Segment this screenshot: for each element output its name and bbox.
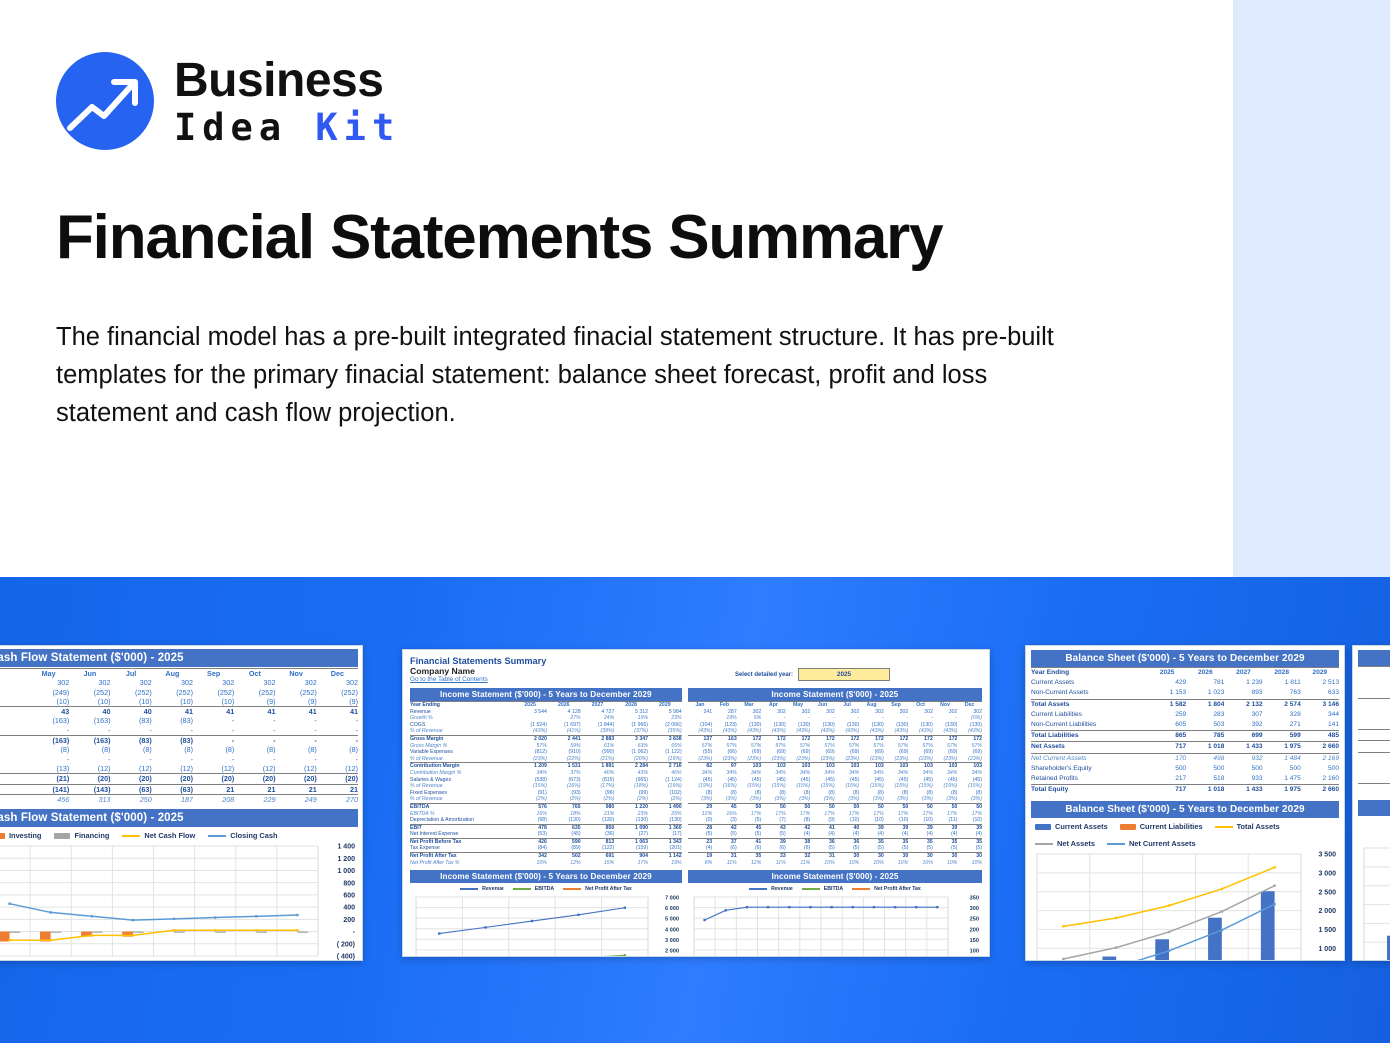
table-cell: (130) — [648, 817, 682, 824]
table-cell: - — [152, 726, 193, 736]
row-label: Growth % — [410, 715, 513, 722]
table-cell: (91) — [513, 790, 547, 797]
table-cell: (163) — [69, 716, 110, 725]
legend-label: Investing — [9, 831, 41, 840]
table-cell: 2 441 — [547, 735, 581, 742]
table-cell: (10) — [111, 697, 152, 707]
table-cell: (12) — [111, 764, 152, 774]
table-cell: (163) — [69, 736, 110, 746]
table-cell: 30 — [933, 853, 958, 860]
screenshot-balance-sheet[interactable]: Balance Sheet ($'000) - 5 Years to Decem… — [1025, 645, 1345, 961]
table-cell: - — [317, 736, 358, 746]
table-cell: 500 — [1263, 764, 1301, 774]
table-cell: 50 — [810, 803, 835, 810]
table-cell: May — [786, 702, 811, 709]
table-cell: 302 — [111, 678, 152, 687]
table-cell: 19 — [688, 853, 713, 860]
table-cell: 35 — [933, 838, 958, 845]
table-cell: 3 544 — [513, 709, 547, 716]
table-cell: (9) — [234, 697, 275, 707]
table-cell: (23%) — [884, 756, 909, 763]
table-row: 137163172172172172172172172172172172 — [688, 735, 982, 742]
row-label: Shareholder's Equity — [1031, 764, 1148, 774]
table-cell: 302 — [276, 678, 317, 687]
table-cell: 2 660 — [1301, 785, 1339, 796]
table-cell: 35 — [908, 838, 933, 845]
table-cell: (1 124) — [648, 777, 682, 784]
legend-item: Net Assets — [1035, 839, 1095, 848]
table-cell: 39 — [859, 824, 884, 831]
table-cell: 172 — [786, 735, 811, 742]
table-cell: (66) — [712, 749, 737, 756]
table-cell: Jun — [810, 702, 835, 709]
legend-label: Total Assets — [1237, 822, 1280, 831]
table-row: (249)(252)(252)(252)(252)(252)(252)(252) — [0, 688, 358, 697]
legend-label: Net Assets — [1057, 839, 1095, 848]
table-row: 294550505050505050505050 — [688, 803, 982, 810]
table-cell: 17% — [957, 811, 982, 818]
row-label: Variable Expenses — [410, 749, 513, 756]
table-cell: - — [276, 736, 317, 746]
table-cell: (83) — [111, 736, 152, 746]
row-label — [0, 716, 28, 725]
table-row: 193135333231303030303030 — [688, 853, 982, 860]
table-cell: (20%) — [614, 756, 648, 763]
row-label: % of Revenue — [410, 756, 513, 763]
table-cell: (5) — [908, 845, 933, 852]
table-cell: 103 — [737, 763, 762, 770]
row-label — [0, 736, 28, 746]
legend-label: Current Assets — [1055, 822, 1108, 831]
table-cell: (39%) — [581, 728, 615, 735]
table-cell: 17% — [761, 811, 786, 818]
table-cell: 865 — [1148, 731, 1186, 742]
table-cell: (8) — [111, 745, 152, 754]
row-label — [0, 678, 28, 687]
table-cell: 37 — [712, 838, 737, 845]
table-cell: 41 — [234, 707, 275, 717]
table-cell: (15%) — [786, 783, 811, 790]
svg-text:2 500: 2 500 — [1318, 890, 1336, 897]
row-label: Depreciation & Amortization — [410, 817, 513, 824]
table-cell: (21) — [28, 774, 69, 784]
table-cell: 1 490 — [648, 803, 682, 810]
table-cell: 426 — [513, 838, 547, 845]
table-row: % of Revenue(43%)(41%)(39%)(37%)(35%) — [410, 728, 682, 735]
table-cell: 229 — [234, 794, 275, 804]
table-cell: (8) — [69, 745, 110, 754]
table-cell: 137 — [688, 735, 713, 742]
table-cell: (23%) — [810, 756, 835, 763]
table-cell: (252) — [317, 688, 358, 697]
table-cell: (12) — [234, 764, 275, 774]
table-row: Net Interest Expense(53)(45)(36)(27)(17) — [410, 831, 682, 838]
table-cell: (104) — [688, 722, 713, 729]
table-cell: 18% — [547, 811, 581, 818]
table-cell: 30 — [835, 853, 860, 860]
table-cell: (8) — [786, 790, 811, 797]
table-cell: 4 128 — [547, 709, 581, 716]
table-cell: 12% — [547, 860, 581, 867]
table-cell: 57% — [957, 743, 982, 750]
table-cell: 163 — [712, 735, 737, 742]
screenshot-balance-sheet-monthly[interactable]: Jan1 1741241 297936927865121 08150012512… — [1352, 645, 1390, 961]
row-label: Revenue — [410, 709, 513, 716]
table-cell: (130) — [761, 722, 786, 729]
table-cell: 500 — [1224, 764, 1262, 774]
table-cell: (2%) — [614, 796, 648, 803]
table-row: Gross Margin2 0202 4412 8833 3473 838 — [410, 735, 682, 742]
table-cell: (43%) — [737, 728, 762, 735]
table-cell: (252) — [193, 688, 234, 697]
row-label: Current Liabilities — [1031, 710, 1148, 720]
table-cell: (10) — [859, 817, 884, 824]
legend-swatch — [513, 888, 531, 890]
table-cell: (8) — [234, 745, 275, 754]
table-cell: (15%) — [859, 783, 884, 790]
table-cell: (83) — [152, 716, 193, 725]
table-cell: (815) — [581, 777, 615, 784]
table-cell: Aug — [152, 669, 193, 679]
table-cell: 30 — [884, 853, 909, 860]
table-cell: - — [111, 755, 152, 764]
table-cell: 302 — [786, 709, 811, 716]
table-cell: (5) — [712, 831, 737, 838]
table-cell: 313 — [69, 794, 110, 804]
table-row: 500 — [1358, 763, 1390, 773]
table-cell: 1 081 — [1358, 752, 1390, 763]
table-cell: 1 153 — [1148, 688, 1186, 699]
table-row: 512 — [1358, 784, 1390, 795]
table-cell: (130) — [810, 722, 835, 729]
table-cell: (812) — [513, 749, 547, 756]
table-cell: 57% — [688, 743, 713, 750]
table-cell: 12% — [737, 860, 762, 867]
table-cell: (20) — [317, 774, 358, 784]
legend-swatch — [1035, 843, 1053, 845]
table-cell: 302 — [908, 709, 933, 716]
table-cell: (965) — [614, 777, 648, 784]
table-cell: (45) — [933, 777, 958, 784]
table-cell: - — [234, 726, 275, 736]
table-cell: 500 — [1358, 763, 1390, 773]
svg-text:1 500: 1 500 — [1318, 927, 1336, 934]
table-cell: 63% — [614, 743, 648, 750]
table-cell: 21 — [193, 784, 234, 794]
table-row: (3%)(3%)(3%)(3%)(3%)(3%)(3%)(3%)(3%)(3%)… — [688, 796, 982, 803]
table-cell: Jan — [1358, 667, 1390, 678]
table-cell: (23%) — [859, 756, 884, 763]
table-cell: 302 — [317, 678, 358, 687]
table-cell: (15%) — [761, 783, 786, 790]
table-cell: 57% — [859, 743, 884, 750]
table-cell: 342 — [513, 853, 547, 860]
table-cell: 40% — [581, 770, 615, 777]
svg-text:1 400: 1 400 — [337, 844, 355, 851]
table-row: Revenue3 5444 1284 7275 3125 984 — [410, 709, 682, 716]
table-cell: (6) — [786, 845, 811, 852]
table-cell: 27% — [547, 715, 581, 722]
table-cell: 2029 — [1301, 668, 1339, 679]
table-cell: (130) — [737, 722, 762, 729]
svg-text:250: 250 — [970, 917, 979, 923]
table-row: 692 — [1358, 719, 1390, 730]
table-cell: (16%) — [547, 783, 581, 790]
svg-text:350: 350 — [970, 896, 979, 902]
table-cell: (12) — [317, 764, 358, 774]
table-cell: (4) — [688, 845, 713, 852]
table-cell: 271 — [1263, 720, 1301, 731]
table-row: Total Equity7171 0181 4331 9752 660 — [1031, 785, 1339, 796]
table-cell: (23%) — [957, 756, 982, 763]
table-cell: (96) — [581, 790, 615, 797]
table-cell: (43%) — [957, 728, 982, 735]
table-cell: 259 — [1148, 710, 1186, 720]
table-cell: (45) — [547, 831, 581, 838]
balance-monthly-title — [1358, 650, 1390, 666]
table-cell: 1 174 — [1358, 677, 1390, 687]
svg-text:5 000: 5 000 — [665, 917, 679, 923]
table-cell: (3%) — [712, 796, 737, 803]
row-label — [0, 707, 28, 717]
year-selector-label: Select detailed year: — [735, 672, 793, 678]
table-cell: (8) — [884, 790, 909, 797]
table-row: Shareholder's Equity500500500500500 — [1031, 764, 1339, 774]
table-cell: (3) — [712, 817, 737, 824]
table-cell: 103 — [957, 763, 982, 770]
row-label: Net Profit Before Tax — [410, 838, 513, 845]
screenshot-income-statement[interactable]: Financial Statements Summary Company Nam… — [402, 649, 990, 957]
table-cell: 17% — [786, 811, 811, 818]
table-cell: (43%) — [761, 728, 786, 735]
table-cell: 241 — [688, 709, 713, 716]
table-cell: (93) — [547, 790, 581, 797]
table-cell: (19%) — [688, 783, 713, 790]
table-row: EBITDA5767659801 2201 490 — [410, 803, 682, 810]
income-monthly-chart-legend: RevenueEBITDANet Profit After Tax — [688, 883, 982, 893]
table-cell: 270 — [317, 794, 358, 804]
table-cell: 124 — [1358, 687, 1390, 698]
table-cell: 456 — [28, 794, 69, 804]
table-row: Contribution Margin %34%37%40%43%46% — [410, 770, 682, 777]
table-row: (0)(3)(5)(7)(8)(9)(10)(10)(10)(10)(11)(1… — [688, 817, 982, 824]
table-cell: 28 — [688, 824, 713, 831]
table-cell: 1 090 — [614, 824, 648, 831]
table-cell: 21 — [276, 784, 317, 794]
table-cell: 57% — [712, 743, 737, 750]
table-cell: 34% — [513, 770, 547, 777]
table-row: 124 — [1358, 687, 1390, 698]
table-cell: (141) — [28, 784, 69, 794]
table-row: Net Assets7171 0181 4331 9752 660 — [1031, 742, 1339, 753]
table-row: Total Assets1 5821 8042 1322 5743 146 — [1031, 699, 1339, 710]
legend-item: Revenue — [460, 886, 504, 892]
cashflow-chart: 1 4001 2001 000800600400200-( 200)( 400)… — [0, 842, 358, 961]
table-cell: (8) — [908, 790, 933, 797]
row-label — [0, 697, 28, 707]
income-header-title: Financial Statements Summary — [410, 656, 546, 666]
table-cell: - — [193, 755, 234, 764]
table-cell: (3%) — [786, 796, 811, 803]
table-cell: 65% — [648, 743, 682, 750]
table-row: (8)(8)(8)(8)(8)(8)(8)(8)(8)(8)(8)(8) — [688, 790, 982, 797]
chart-canvas: 1 4001 2001 000800600400200-( 200)( 400)… — [0, 842, 358, 961]
table-cell: (45) — [884, 777, 909, 784]
table-cell: - — [761, 715, 786, 722]
table-cell: (5) — [859, 845, 884, 852]
table-cell: - — [193, 726, 234, 736]
chart-canvas: Jan — [1358, 844, 1390, 961]
table-cell: (130) — [933, 722, 958, 729]
svg-text:1 200: 1 200 — [337, 856, 355, 863]
table-cell: 40 — [111, 707, 152, 717]
brand-logo: Business Idea Kit — [56, 52, 400, 150]
table-cell: 302 — [152, 678, 193, 687]
legend-swatch — [208, 835, 226, 837]
table-cell: 1 804 — [1186, 699, 1224, 710]
table-cell: 1 018 — [1186, 785, 1224, 796]
table-row: (55)(66)(69)(69)(69)(69)(69)(69)(69)(69)… — [688, 749, 982, 756]
cashflow-chart-title: Cash Flow Statement ($'000) - 2025 — [0, 809, 358, 827]
table-cell: 1 142 — [648, 853, 682, 860]
table-row: Jan — [1358, 667, 1390, 678]
table-cell: 31 — [712, 853, 737, 860]
table-cell: (252) — [69, 688, 110, 697]
legend-label: Net Cash Flow — [144, 831, 195, 840]
table-cell: 2029 — [648, 702, 682, 709]
table-cell: (45) — [908, 777, 933, 784]
table-cell: - — [152, 755, 193, 764]
legend-swatch — [54, 833, 70, 839]
income-5y-chart: 7 0006 0005 0004 0003 0002 0001 000-2025… — [410, 893, 682, 957]
table-row: EBIT4786358501 0901 360 — [410, 824, 682, 831]
toc-link[interactable]: Go to the Table of Contents — [410, 676, 546, 683]
balance-table: Year Ending20252026202720282029Current A… — [1031, 667, 1339, 795]
legend-swatch — [0, 833, 5, 839]
table-cell: (69) — [908, 749, 933, 756]
table-cell: (9) — [810, 817, 835, 824]
table-cell: (13) — [28, 764, 69, 774]
table-cell: 3 838 — [648, 735, 682, 742]
table-cell: 19% — [614, 715, 648, 722]
table-cell: 10% — [810, 860, 835, 867]
table-cell: (8) — [28, 745, 69, 754]
table-cell: 30 — [957, 853, 982, 860]
table-cell: 50 — [957, 803, 982, 810]
table-cell: - — [69, 755, 110, 764]
table-row: 512 — [1358, 741, 1390, 752]
legend-item: EBITDA — [513, 886, 554, 892]
table-cell: 35 — [737, 853, 762, 860]
table-cell: - — [193, 716, 234, 725]
row-label: Total Liabilities — [1031, 731, 1148, 742]
table-cell: 35 — [859, 838, 884, 845]
table-cell: (23%) — [712, 756, 737, 763]
page-title: Financial Statements Summary — [56, 202, 942, 273]
legend-item: Net Current Assets — [1107, 839, 1196, 848]
table-cell: (4) — [908, 831, 933, 838]
table-cell: (130) — [547, 817, 581, 824]
table-cell: 57% — [884, 743, 909, 750]
svg-text:400: 400 — [343, 905, 355, 912]
table-cell: Jan — [688, 702, 713, 709]
table-cell: 302 — [884, 709, 909, 716]
table-cell: (12) — [69, 764, 110, 774]
table-cell: (36) — [581, 831, 615, 838]
table-cell: 187 — [152, 794, 193, 804]
row-label: Total Equity — [1031, 785, 1148, 796]
table-cell: (23%) — [688, 756, 713, 763]
table-cell: 38 — [786, 838, 811, 845]
balance-table-title: Balance Sheet ($'000) - 5 Years to Decem… — [1031, 650, 1339, 667]
legend-item: Current Assets — [1035, 822, 1108, 831]
table-cell: 904 — [614, 853, 648, 860]
balance-monthly-chart-title — [1358, 800, 1390, 816]
table-cell: 1 297 — [1358, 698, 1390, 709]
table-cell: (123) — [712, 722, 737, 729]
table-cell: 498 — [1186, 753, 1224, 764]
table-cell: 11% — [786, 860, 811, 867]
table-row: (163)(163)(83)(83)---- — [0, 716, 358, 725]
table-cell: 500 — [1148, 764, 1186, 774]
table-cell: 37% — [547, 770, 581, 777]
table-cell: (163) — [28, 716, 69, 725]
table-cell: 41 — [317, 707, 358, 717]
table-cell: 1 209 — [513, 763, 547, 770]
table-cell: 172 — [933, 735, 958, 742]
table-cell: 34% — [712, 770, 737, 777]
table-cell: 17% — [614, 860, 648, 867]
table-cell: (8) — [835, 790, 860, 797]
table-cell: 42 — [786, 824, 811, 831]
income-5y-chart-legend: RevenueEBITDANet Profit After Tax — [410, 883, 682, 893]
year-selector-input[interactable]: 2025 — [798, 668, 890, 681]
table-cell: 57% — [835, 743, 860, 750]
table-cell: 302 — [234, 678, 275, 687]
table-cell: 502 — [547, 853, 581, 860]
table-cell: (8) — [737, 790, 762, 797]
table-cell: (11) — [933, 817, 958, 824]
table-row: (23%)(23%)(23%)(23%)(23%)(23%)(23%)(23%)… — [688, 756, 982, 763]
table-cell: 2027 — [581, 702, 615, 709]
table-cell: 34% — [688, 770, 713, 777]
table-cell: (2%) — [648, 796, 682, 803]
legend-swatch — [1107, 843, 1125, 845]
brand-wordmark: Business Idea Kit — [174, 57, 400, 146]
table-cell: (9) — [276, 697, 317, 707]
table-cell: 30 — [859, 853, 884, 860]
table-cell: (8) — [810, 790, 835, 797]
table-cell: 2 574 — [1263, 699, 1301, 710]
screenshot-cash-flow[interactable]: Cash Flow Statement ($'000) - 2025 MayJu… — [0, 645, 363, 961]
table-cell — [688, 715, 713, 722]
table-cell: 1 811 — [1263, 678, 1301, 688]
table-cell: (5) — [737, 831, 762, 838]
table-row: 57%57%57%57%57%57%57%57%57%57%57%57% — [688, 743, 982, 750]
table-cell: 29 — [688, 803, 713, 810]
table-cell: - — [810, 715, 835, 722]
table-cell: (8) — [933, 790, 958, 797]
brand-word-kit: Kit — [315, 106, 400, 149]
table-cell: 141 — [1301, 720, 1339, 731]
table-cell: (43%) — [810, 728, 835, 735]
table-cell: (252) — [276, 688, 317, 697]
table-cell: 2 160 — [1301, 774, 1339, 785]
table-row: 12 — [1358, 773, 1390, 784]
table-cell: 932 — [1224, 753, 1262, 764]
table-cell: (83) — [111, 716, 152, 725]
table-cell: 2 660 — [1301, 742, 1339, 753]
